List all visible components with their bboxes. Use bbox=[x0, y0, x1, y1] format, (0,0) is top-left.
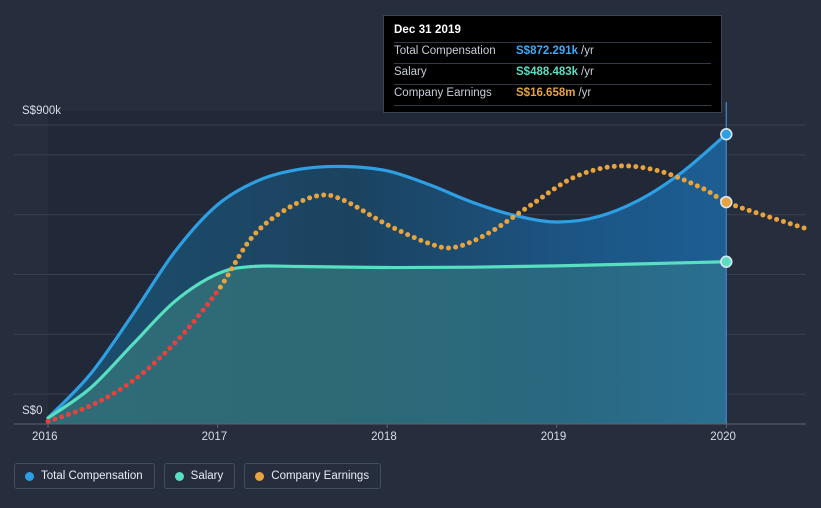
tooltip-row-value: S$872.291k bbox=[516, 45, 578, 57]
tooltip-row: Total Compensation S$872.291k /yr bbox=[394, 42, 711, 63]
chart-tooltip: Dec 31 2019 Total Compensation S$872.291… bbox=[383, 15, 722, 113]
legend-label: Company Earnings bbox=[271, 470, 369, 482]
tooltip-row-unit: /yr bbox=[581, 45, 594, 57]
tooltip-row-label: Salary bbox=[394, 66, 516, 78]
legend-dot-icon bbox=[175, 472, 184, 481]
chart-legend: Total Compensation Salary Company Earnin… bbox=[14, 463, 381, 489]
legend-label: Total Compensation bbox=[41, 470, 143, 482]
tooltip-row-value: S$488.483k bbox=[516, 66, 578, 78]
tooltip-row-label: Company Earnings bbox=[394, 87, 516, 99]
tooltip-row-unit: /yr bbox=[578, 87, 591, 99]
legend-dot-icon bbox=[255, 472, 264, 481]
legend-dot-icon bbox=[25, 472, 34, 481]
legend-item-company-earnings[interactable]: Company Earnings bbox=[244, 463, 381, 489]
x-axis-tick-label: 2020 bbox=[710, 431, 736, 443]
tooltip-row: Salary S$488.483k /yr bbox=[394, 63, 711, 84]
x-axis-tick-label: 2019 bbox=[541, 431, 567, 443]
x-axis-tick-label: 2016 bbox=[32, 431, 58, 443]
legend-label: Salary bbox=[191, 470, 224, 482]
tooltip-row-value: S$16.658m bbox=[516, 87, 575, 99]
y-axis-zero-label: S$0 bbox=[22, 405, 42, 417]
tooltip-row-unit: /yr bbox=[581, 66, 594, 78]
tooltip-row: Company Earnings S$16.658m /yr bbox=[394, 84, 711, 106]
legend-item-total-compensation[interactable]: Total Compensation bbox=[14, 463, 155, 489]
y-axis-top-label: S$900k bbox=[22, 105, 61, 117]
compensation-chart: S$900k S$0 20162017201820192020 Dec 31 2… bbox=[0, 0, 821, 508]
tooltip-title: Dec 31 2019 bbox=[394, 24, 711, 42]
x-axis-tick-label: 2018 bbox=[371, 431, 397, 443]
legend-item-salary[interactable]: Salary bbox=[164, 463, 236, 489]
tooltip-row-label: Total Compensation bbox=[394, 45, 516, 57]
x-axis-tick-label: 2017 bbox=[202, 431, 228, 443]
